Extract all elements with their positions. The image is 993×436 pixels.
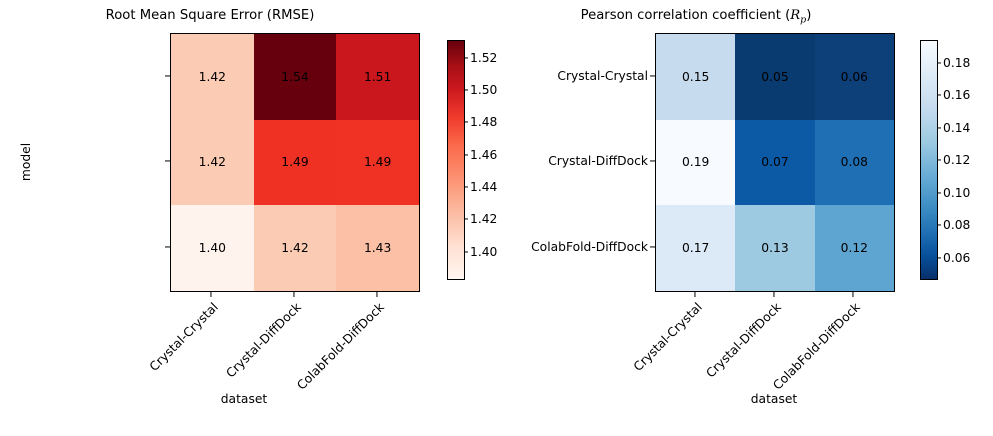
x-axis-label-pearson: dataset [724, 392, 824, 406]
matplotlib-figure: Root Mean Square Error (RMSE) model Crys… [0, 0, 993, 436]
colorbar-tick-label: 1.42 [470, 212, 497, 226]
chart-title-pearson: Pearson correlation coefficient (Rp) [486, 8, 906, 29]
x-tick-mark-2-rmse [376, 292, 377, 297]
x-axis-label-rmse: dataset [194, 392, 294, 406]
colorbar-tick-mark [464, 121, 468, 122]
heatmap-cell: 0.05 [735, 34, 814, 120]
heatmap-cell: 1.42 [171, 120, 254, 206]
heatmap-cell: 0.06 [815, 34, 894, 120]
heatmap-cell: 1.49 [254, 120, 337, 206]
heatmap-cell: 1.43 [336, 205, 419, 291]
heatmap-cell: 1.40 [171, 205, 254, 291]
colorbar-tick-mark [937, 127, 941, 128]
colorbar-tick-label: 0.06 [943, 251, 970, 265]
x-tick-label-0-rmse: Crystal-Crystal [140, 300, 221, 381]
colorbar-tick-mark [937, 159, 941, 160]
colorbar-tick-mark [464, 89, 468, 90]
colorbar-tick-mark [937, 94, 941, 95]
colorbar-tick-label: 0.14 [943, 121, 970, 135]
colorbar-tick-label: 1.48 [470, 115, 497, 129]
chart-title-pearson-symbol: R [790, 8, 800, 23]
colorbar-tick-label: 1.40 [470, 245, 497, 259]
panel-rmse: Root Mean Square Error (RMSE) model Crys… [0, 0, 500, 436]
heatmap-cell: 1.42 [254, 205, 337, 291]
heatmap-cell: 0.08 [815, 120, 894, 206]
colorbar-tick-mark [937, 62, 941, 63]
colorbar-pearson [920, 40, 938, 280]
colorbar-tick-mark [464, 57, 468, 58]
y-tick-label-1-pearson: Crystal-DiffDock [548, 154, 648, 168]
heatmap-cell: 0.19 [656, 120, 735, 206]
colorbar-tick-label: 1.52 [470, 51, 497, 65]
heatmap-cell: 0.13 [735, 205, 814, 291]
colorbar-tick-mark [464, 251, 468, 252]
chart-title-rmse: Root Mean Square Error (RMSE) [0, 8, 420, 24]
colorbar-tick-label: 0.08 [943, 218, 970, 232]
colorbar-tick-label: 1.46 [470, 148, 497, 162]
x-tick-mark-0-pearson [694, 292, 695, 297]
heatmap-axes-pearson: 0.15 0.05 0.06 0.19 0.07 0.08 0.17 0.13 … [655, 33, 895, 292]
heatmap-axes-rmse: 1.42 1.54 1.51 1.42 1.49 1.49 1.40 1.42 … [170, 33, 420, 292]
colorbar-tick-mark [937, 224, 941, 225]
colorbar-gradient-pearson [921, 41, 937, 279]
heatmap-cell: 0.17 [656, 205, 735, 291]
colorbar-gradient-rmse [448, 41, 464, 279]
heatmap-grid-rmse: 1.42 1.54 1.51 1.42 1.49 1.49 1.40 1.42 … [171, 34, 419, 291]
colorbar-tick-mark [464, 218, 468, 219]
heatmap-cell: 1.49 [336, 120, 419, 206]
heatmap-cell: 1.54 [254, 34, 337, 120]
colorbar-tick-mark [937, 192, 941, 193]
x-tick-label-1-rmse: Crystal-DiffDock [213, 300, 304, 391]
x-tick-mark-0-rmse [210, 292, 211, 297]
colorbar-tick-label: 0.12 [943, 153, 970, 167]
y-tick-label-0-pearson: Crystal-Crystal [557, 69, 648, 83]
colorbar-tick-label: 0.18 [943, 56, 970, 70]
colorbar-tick-label: 0.16 [943, 88, 970, 102]
colorbar-tick-label: 0.10 [943, 186, 970, 200]
colorbar-tick-mark [464, 154, 468, 155]
heatmap-grid-pearson: 0.15 0.05 0.06 0.19 0.07 0.08 0.17 0.13 … [656, 34, 894, 291]
heatmap-cell: 1.51 [336, 34, 419, 120]
heatmap-cell: 0.07 [735, 120, 814, 206]
colorbar-rmse [447, 40, 465, 280]
chart-title-pearson-prefix: Pearson correlation coefficient ( [581, 8, 791, 23]
x-tick-mark-1-rmse [293, 292, 294, 297]
x-tick-mark-2-pearson [852, 292, 853, 297]
heatmap-cell: 1.42 [171, 34, 254, 120]
heatmap-cell: 0.12 [815, 205, 894, 291]
x-tick-label-0-pearson: Crystal-Crystal [624, 300, 705, 381]
chart-title-pearson-suffix: ) [806, 8, 811, 23]
y-tick-label-2-pearson: ColabFold-DiffDock [531, 240, 648, 254]
colorbar-tick-label: 1.50 [470, 83, 497, 97]
x-tick-mark-1-pearson [773, 292, 774, 297]
heatmap-cell: 0.15 [656, 34, 735, 120]
y-axis-label-rmse: model [19, 132, 33, 192]
x-tick-label-1-pearson: Crystal-DiffDock [693, 300, 784, 391]
x-tick-label-2-pearson: ColabFold-DiffDock [765, 300, 863, 398]
colorbar-tick-mark [464, 186, 468, 187]
colorbar-tick-mark [937, 257, 941, 258]
x-tick-label-2-rmse: ColabFold-DiffDock [289, 300, 387, 398]
colorbar-tick-label: 1.44 [470, 180, 497, 194]
